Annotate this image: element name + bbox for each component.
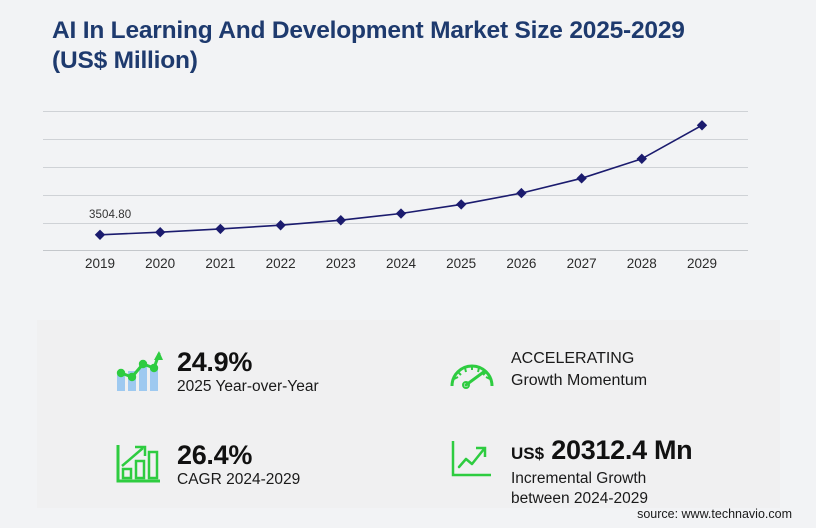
incremental-caption-2: between 2024-2029	[511, 489, 692, 509]
stat-cagr: 26.4% CAGR 2024-2029	[113, 440, 300, 490]
title-line-2: (US$ Million)	[52, 47, 198, 74]
cagr-caption: CAGR 2024-2029	[177, 470, 300, 490]
stat-incremental-growth: US$ 20312.4 Mn Incremental Growth betwee…	[447, 435, 692, 509]
bar-chart-arrow-icon	[113, 440, 163, 486]
title-line-1: AI In Learning And Development Market Si…	[52, 17, 685, 44]
x-tick-2026: 2026	[491, 256, 551, 271]
x-tick-2027: 2027	[552, 256, 612, 271]
page-title: AI In Learning And Development Market Si…	[52, 16, 752, 76]
x-tick-2028: 2028	[612, 256, 672, 271]
speedometer-icon	[447, 348, 497, 394]
momentum-value: ACCELERATING	[511, 348, 647, 370]
x-tick-2023: 2023	[311, 256, 371, 271]
x-tick-2020: 2020	[130, 256, 190, 271]
stat-year-over-year: 24.9% 2025 Year-over-Year	[113, 347, 319, 397]
x-tick-2025: 2025	[431, 256, 491, 271]
bar-line-growth-icon	[113, 347, 163, 393]
x-tick-2021: 2021	[190, 256, 250, 271]
yoy-value: 24.9%	[177, 347, 319, 377]
x-tick-2022: 2022	[251, 256, 311, 271]
incremental-value: 20312.4 Mn	[551, 435, 692, 465]
source-note: source: www.technavio.com	[637, 507, 792, 521]
infographic-page: AI In Learning And Development Market Si…	[0, 0, 816, 528]
stat-growth-momentum: ACCELERATING Growth Momentum	[447, 348, 647, 394]
line-arrow-up-icon	[447, 435, 497, 481]
incremental-unit: US$	[511, 444, 544, 463]
data-label-2019: 3504.80	[89, 209, 131, 221]
x-tick-2019: 2019	[70, 256, 130, 271]
stats-panel: 24.9% 2025 Year-over-Year	[37, 320, 780, 508]
incremental-caption-1: Incremental Growth	[511, 469, 692, 489]
momentum-caption: Growth Momentum	[511, 370, 647, 392]
cagr-value: 26.4%	[177, 440, 300, 470]
x-tick-2029: 2029	[672, 256, 732, 271]
x-tick-2024: 2024	[371, 256, 431, 271]
yoy-caption: 2025 Year-over-Year	[177, 377, 319, 397]
